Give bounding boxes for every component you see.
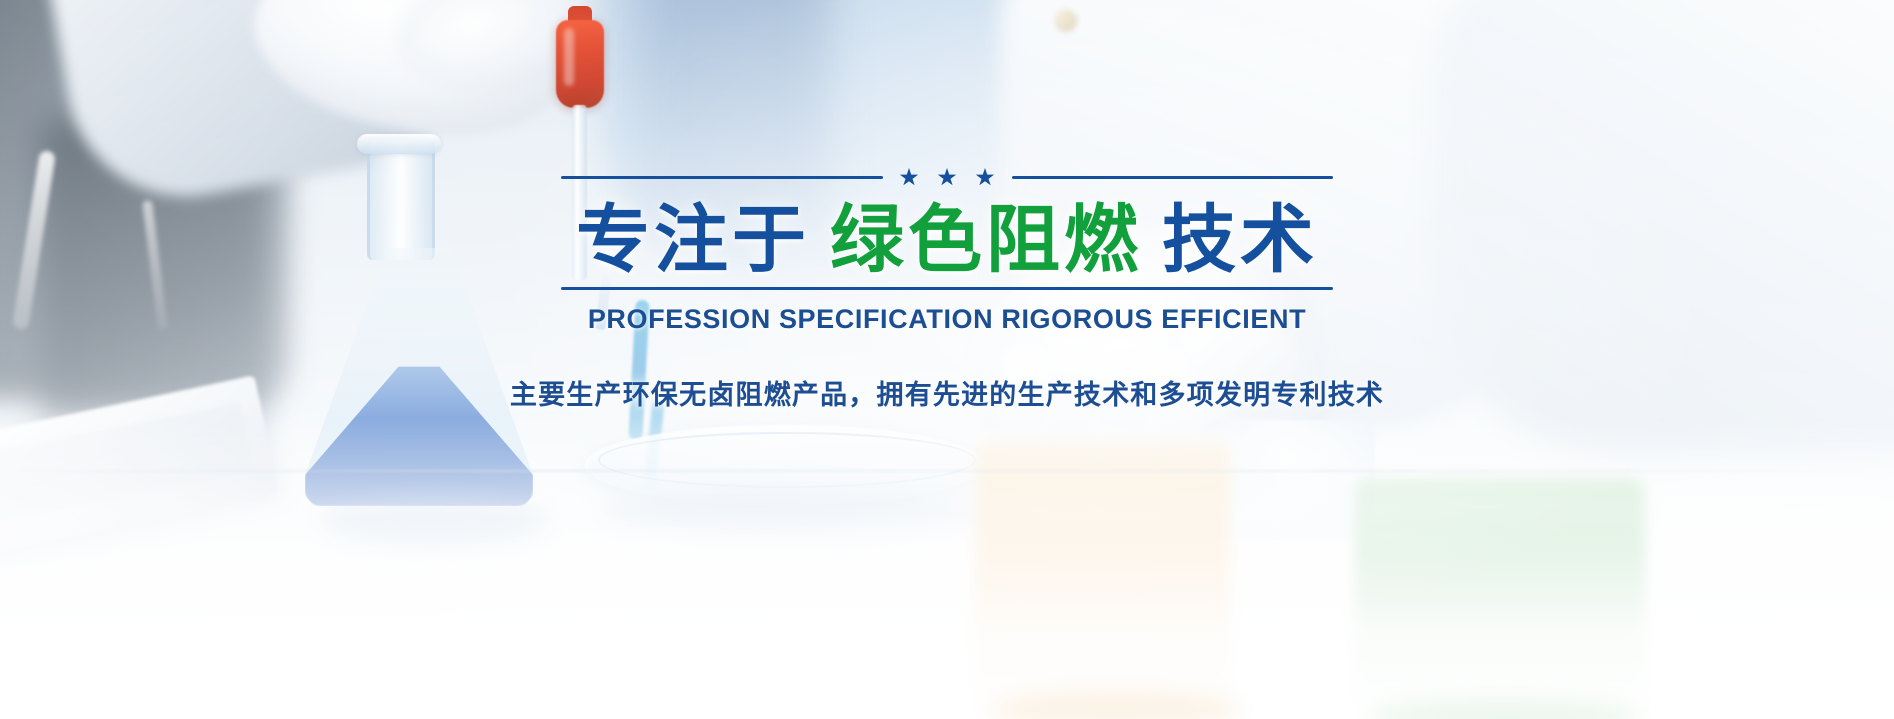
decorative-rule-left	[561, 176, 883, 179]
hero-banner: 专注于绿色阻燃技术 PROFESSION SPECIFICATION RIGOR…	[0, 0, 1894, 719]
banner-subtitle: PROFESSION SPECIFICATION RIGOROUS EFFICI…	[588, 304, 1306, 335]
banner-content: 专注于绿色阻燃技术 PROFESSION SPECIFICATION RIGOR…	[0, 0, 1894, 719]
decorative-rule-row	[561, 168, 1333, 187]
banner-tagline: 主要生产环保无卤阻燃产品，拥有先进的生产技术和多项发明专利技术	[510, 373, 1384, 412]
star-icon	[938, 168, 957, 187]
star-group	[883, 168, 1012, 187]
headline-underline	[561, 287, 1333, 290]
headline-part-1: 专注于	[576, 198, 810, 281]
decorative-rule-right	[1012, 176, 1334, 179]
star-icon	[900, 168, 919, 187]
star-icon	[976, 168, 995, 187]
headline-part-3: 技术	[1162, 198, 1318, 281]
headline-part-2: 绿色阻燃	[830, 198, 1142, 281]
banner-headline: 专注于绿色阻燃技术	[576, 201, 1318, 279]
